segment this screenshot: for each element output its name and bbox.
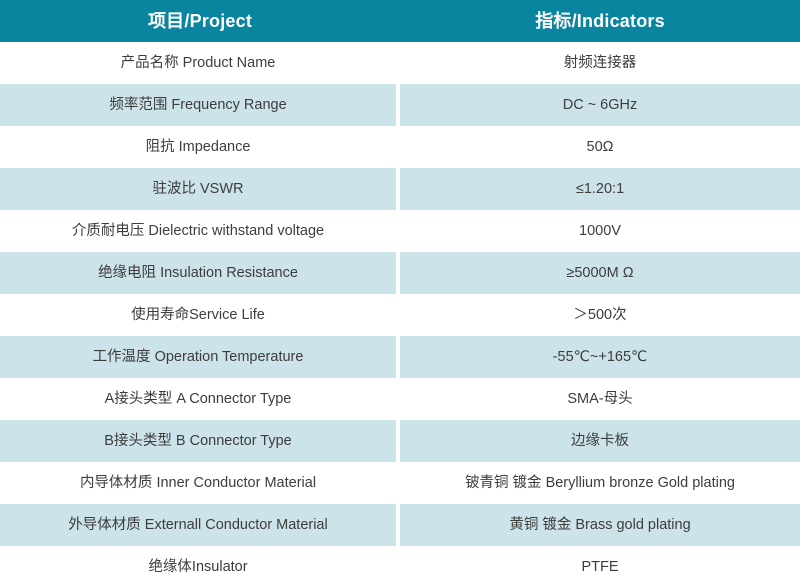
cell-indicator-text: ＞500次 [406,294,794,336]
table-header-row: 项目/Project 指标/Indicators [0,0,800,42]
table-body: 产品名称 Product Name射频连接器频率范围 Frequency Ran… [0,42,800,588]
cell-project: 使用寿命Service Life [0,294,400,336]
specification-table: 项目/Project 指标/Indicators 产品名称 Product Na… [0,0,800,588]
cell-project: 内导体材质 Inner Conductor Material [0,462,400,504]
cell-project: 产品名称 Product Name [0,42,400,84]
cell-project: A接头类型 A Connector Type [0,378,400,420]
cell-indicator: 铍青铜 镀金 Beryllium bronze Gold plating [400,462,800,504]
table-row: 内导体材质 Inner Conductor Material铍青铜 镀金 Ber… [0,462,800,504]
column-header-project: 项目/Project [0,0,400,42]
cell-indicator-text: DC ~ 6GHz [406,84,794,126]
table-row: 介质耐电压 Dielectric withstand voltage1000V [0,210,800,252]
cell-project-text: B接头类型 B Connector Type [6,420,390,462]
table-row: 驻波比 VSWR≤1.20:1 [0,168,800,210]
table-row: 绝缘电阻 Insulation Resistance≥5000M Ω [0,252,800,294]
cell-project-text: 频率范围 Frequency Range [6,84,390,126]
table-row: B接头类型 B Connector Type边缘卡板 [0,420,800,462]
cell-indicator: 1000V [400,210,800,252]
cell-project-text: 驻波比 VSWR [6,168,390,210]
cell-indicator-text: 射频连接器 [406,42,794,84]
cell-indicator: ≥5000M Ω [400,252,800,294]
cell-indicator: PTFE [400,546,800,588]
cell-indicator-text: -55℃~+165℃ [406,336,794,378]
cell-project: 驻波比 VSWR [0,168,400,210]
table-row: 绝缘体InsulatorPTFE [0,546,800,588]
column-header-indicators: 指标/Indicators [400,0,800,42]
cell-indicator: 边缘卡板 [400,420,800,462]
cell-project-text: 介质耐电压 Dielectric withstand voltage [6,210,390,252]
cell-indicator: 射频连接器 [400,42,800,84]
cell-indicator-text: ≥5000M Ω [406,252,794,294]
cell-indicator: ≤1.20:1 [400,168,800,210]
table-row: 产品名称 Product Name射频连接器 [0,42,800,84]
cell-project: 绝缘体Insulator [0,546,400,588]
cell-project-text: 内导体材质 Inner Conductor Material [6,462,390,504]
table-row: 频率范围 Frequency RangeDC ~ 6GHz [0,84,800,126]
cell-indicator-text: 50Ω [406,126,794,168]
cell-project-text: 外导体材质 Externall Conductor Material [6,504,390,546]
cell-project-text: 工作温度 Operation Temperature [6,336,390,378]
cell-indicator-text: 边缘卡板 [406,420,794,462]
cell-indicator: SMA-母头 [400,378,800,420]
cell-project-text: 使用寿命Service Life [6,294,390,336]
cell-project-text: 绝缘体Insulator [6,546,390,588]
table-row: 外导体材质 Externall Conductor Material黄铜 镀金 … [0,504,800,546]
cell-indicator-text: ≤1.20:1 [406,168,794,210]
cell-indicator-text: SMA-母头 [406,378,794,420]
cell-indicator: ＞500次 [400,294,800,336]
cell-indicator: 黄铜 镀金 Brass gold plating [400,504,800,546]
table-row: A接头类型 A Connector TypeSMA-母头 [0,378,800,420]
cell-project-text: 阻抗 Impedance [6,126,390,168]
cell-indicator: 50Ω [400,126,800,168]
cell-indicator-text: 1000V [406,210,794,252]
cell-project: 工作温度 Operation Temperature [0,336,400,378]
cell-project: 频率范围 Frequency Range [0,84,400,126]
cell-indicator: -55℃~+165℃ [400,336,800,378]
cell-project: 绝缘电阻 Insulation Resistance [0,252,400,294]
cell-indicator-text: PTFE [406,546,794,588]
cell-indicator-text: 黄铜 镀金 Brass gold plating [406,504,794,546]
cell-project: 外导体材质 Externall Conductor Material [0,504,400,546]
cell-project: 介质耐电压 Dielectric withstand voltage [0,210,400,252]
table-row: 使用寿命Service Life＞500次 [0,294,800,336]
table-row: 工作温度 Operation Temperature-55℃~+165℃ [0,336,800,378]
cell-project-text: 绝缘电阻 Insulation Resistance [6,252,390,294]
cell-project-text: 产品名称 Product Name [6,42,390,84]
cell-indicator: DC ~ 6GHz [400,84,800,126]
cell-indicator-text: 铍青铜 镀金 Beryllium bronze Gold plating [406,462,794,504]
cell-project: 阻抗 Impedance [0,126,400,168]
table-header: 项目/Project 指标/Indicators [0,0,800,42]
table-row: 阻抗 Impedance50Ω [0,126,800,168]
cell-project: B接头类型 B Connector Type [0,420,400,462]
cell-project-text: A接头类型 A Connector Type [6,378,390,420]
